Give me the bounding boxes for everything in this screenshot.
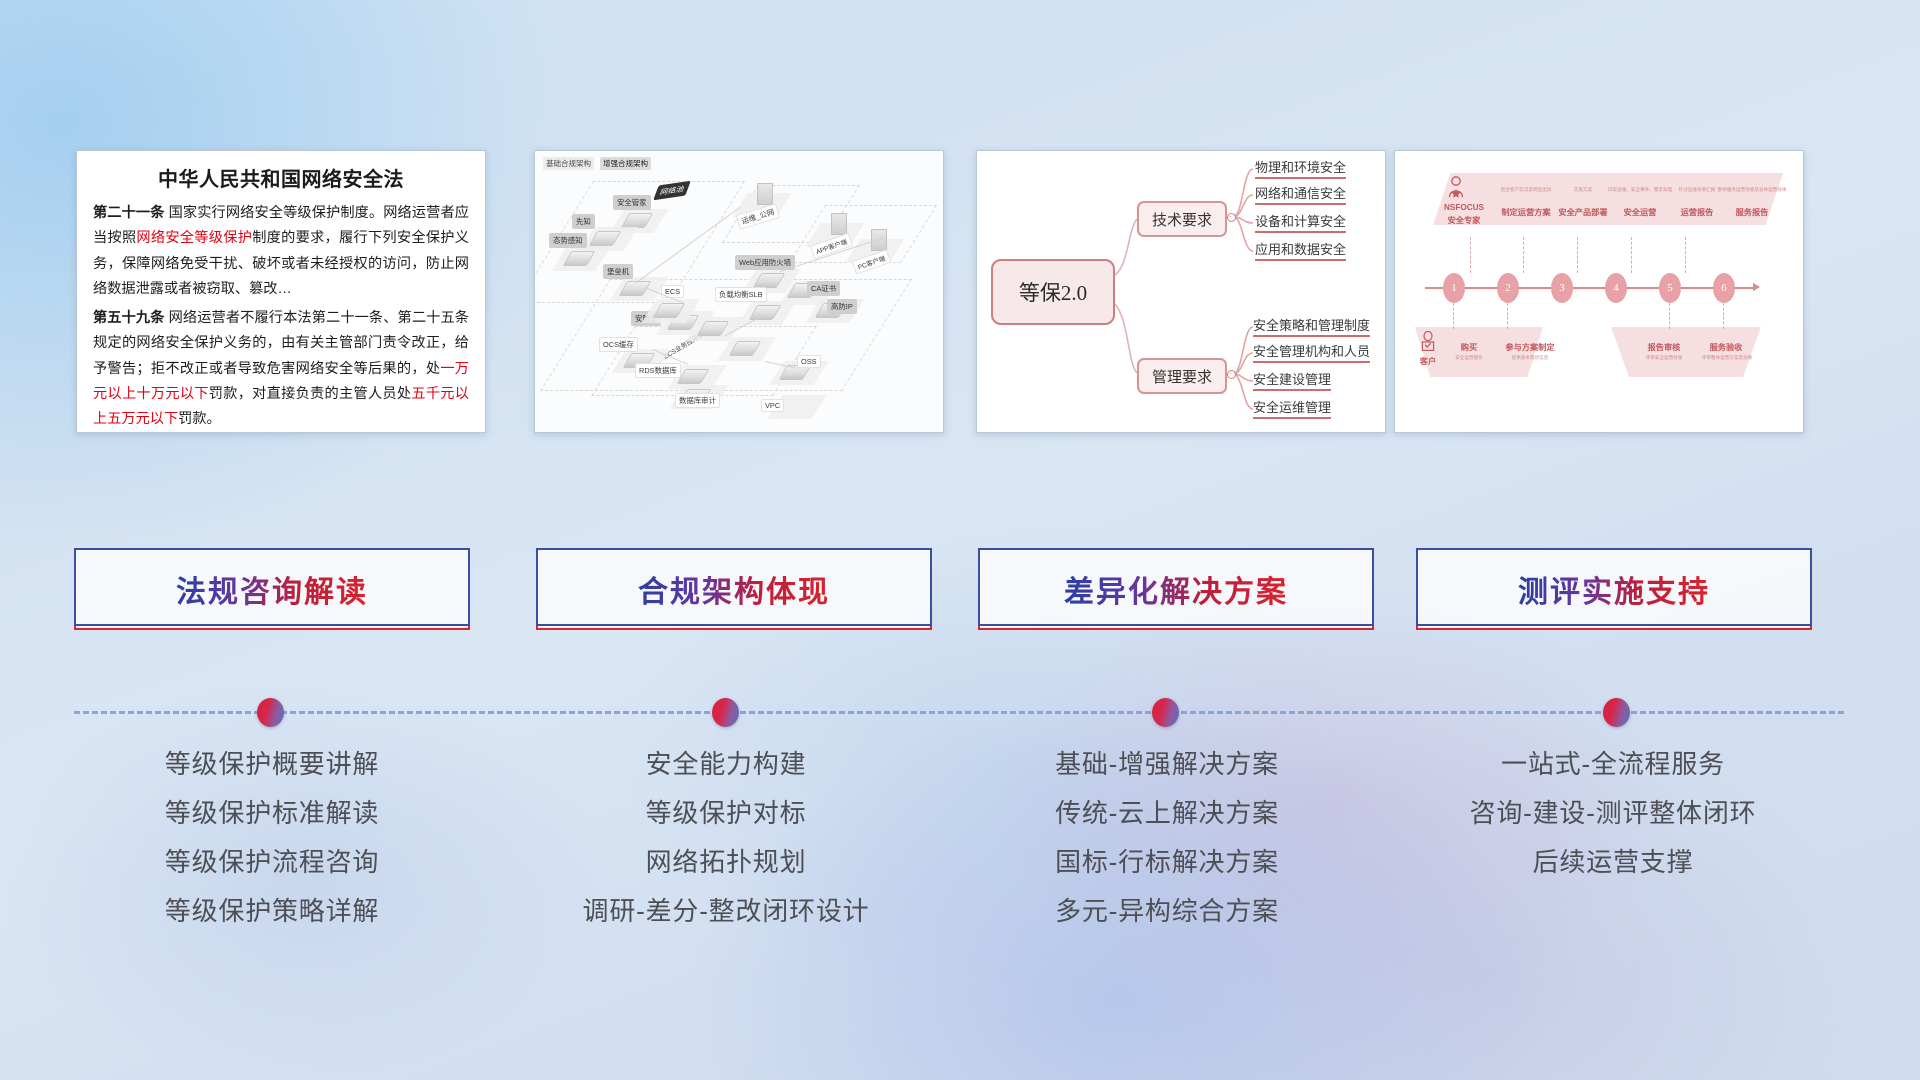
server-app-client xyxy=(831,213,847,235)
node-db-audit: 数据库审计 xyxy=(675,393,720,408)
nsfocus-bottom-label-4: 服务验收 xyxy=(1697,341,1755,353)
node-slb: 负载均衡SLB xyxy=(715,287,767,302)
nsfocus-bottom-label-3: 报告审核 xyxy=(1635,341,1693,353)
timeline-node-4[interactable] xyxy=(1603,698,1630,727)
nsfocus-tick-bottom-2 xyxy=(1507,303,1509,329)
nsfocus-tick-top-3 xyxy=(1577,237,1579,273)
law-article-59-after: 罚款。 xyxy=(178,411,221,427)
node-rds: RDS数据库 xyxy=(635,363,681,378)
cloud-architecture-diagram: 基础合规架构 增强合规架构 网络池 安全管家 先知 态势 xyxy=(535,151,943,432)
law-document: 中华人民共和国网络安全法 第二十一条 国家实行网络安全等级保护制度。网络运营者应… xyxy=(77,151,485,432)
mindmap-branch-management: 管理要求 xyxy=(1137,358,1227,394)
nsfocus-axis xyxy=(1425,287,1755,289)
section-heading-box-2[interactable]: 合规架构体现 xyxy=(536,548,932,630)
nsfocus-bottom-label-1: 购买 xyxy=(1447,341,1491,353)
section-detail-lists: 等级保护概要讲解 等级保护标准解读 等级保护流程咨询 等级保护策略详解 安全能力… xyxy=(0,740,1920,960)
list-item: 一站式-全流程服务 xyxy=(1393,740,1833,789)
list-item: 等级保护流程咨询 xyxy=(52,838,492,887)
customer-icon xyxy=(1419,331,1437,353)
nsfocus-step-number-4: 4 xyxy=(1605,273,1627,303)
list-item: 传统-云上解决方案 xyxy=(947,789,1387,838)
node-bastion-host: 堡垒机 xyxy=(603,264,633,279)
list-item: 等级保护概要讲解 xyxy=(52,740,492,789)
card-nsfocus-service-timeline: NSFOCUS 安全专家 结合客户实况说明后出具 制定运营方案 实施方案 安全产… xyxy=(1394,150,1804,433)
mindmap-collapse-dot-management[interactable] xyxy=(1227,370,1236,379)
list-item: 安全能力构建 xyxy=(506,740,946,789)
architecture-tabs: 基础合规架构 增强合规架构 xyxy=(543,157,651,170)
list-item: 等级保护策略详解 xyxy=(52,887,492,936)
node-vpc: VPC xyxy=(761,399,784,412)
mindmap-leaf-construction-mgmt: 安全建设管理 xyxy=(1253,369,1331,393)
mindmap-leaf-device-compute: 设备和计算安全 xyxy=(1255,211,1346,235)
node-ca-cert: CA证书 xyxy=(807,281,840,296)
detail-list-3: 基础-增强解决方案 传统-云上解决方案 国标-行标解决方案 多元-异构综合方案 xyxy=(947,740,1387,936)
list-item: 网络拓扑规划 xyxy=(506,838,946,887)
nsfocus-bottom-sub-1: 安全运营服务 xyxy=(1443,355,1495,361)
nsfocus-top-sub-5: 整体服务运营效果及总体运营效果 xyxy=(1693,187,1804,193)
nsfocus-step-number-3: 3 xyxy=(1551,273,1573,303)
mindmap-root: 等保2.0 xyxy=(991,259,1115,325)
timeline-dashed-line xyxy=(74,711,1844,714)
card-mindmap-dengbao: 等保2.0 技术要求 物理和环境安全 网络和通信安全 设备和计算安全 应用和数据… xyxy=(976,150,1386,433)
nsfocus-step-number-6: 6 xyxy=(1713,273,1735,303)
section-heading-label-4: 测评实施支持 xyxy=(1518,567,1710,611)
nsfocus-axis-arrow-icon xyxy=(1753,283,1760,291)
node-xianzhi: 先知 xyxy=(572,214,595,229)
law-article-21-highlight: 网络安全等级保护 xyxy=(136,230,252,246)
detail-list-2: 安全能力构建 等级保护对标 网络拓扑规划 调研-差分-整改闭环设计 xyxy=(506,740,946,936)
nsfocus-tick-bottom-3 xyxy=(1669,303,1671,329)
mindmap-leaf-org-personnel: 安全管理机构和人员 xyxy=(1253,341,1370,365)
nsfocus-top-label-5: 服务报告 xyxy=(1693,206,1804,218)
mindmap-leaf-policy-system: 安全策略和管理制度 xyxy=(1253,315,1370,339)
section-heading-box-4[interactable]: 测评实施支持 xyxy=(1416,548,1812,630)
nsfocus-bottom-sub-2: 提供基本现状信息 xyxy=(1493,355,1567,361)
nsfocus-step-number-5: 5 xyxy=(1659,273,1681,303)
mindmap-leaf-ops-mgmt: 安全运维管理 xyxy=(1253,397,1331,421)
mindmap-collapse-dot-technical[interactable] xyxy=(1227,213,1236,222)
mindmap-leaf-physical-env: 物理和环境安全 xyxy=(1255,157,1346,181)
law-article-59-mid: 罚款，对直接负责的主管人员处 xyxy=(209,386,412,402)
list-item: 等级保护标准解读 xyxy=(52,789,492,838)
mindmap-leaf-app-data: 应用和数据安全 xyxy=(1255,239,1346,263)
node-anti-ddos-ip: 高防IP xyxy=(827,299,857,314)
nsfocus-step-number-2: 2 xyxy=(1497,273,1519,303)
node-oss: OSS xyxy=(797,355,821,368)
section-heading-box-3[interactable]: 差异化解决方案 xyxy=(978,548,1374,630)
timeline-node-3[interactable] xyxy=(1152,698,1179,727)
nsfocus-bottom-label-2: 参与方案制定 xyxy=(1493,341,1567,353)
law-article-59: 第五十九条 网络运营者不履行本法第二十一条、第二十五条规定的网络安全保护义务的，… xyxy=(93,306,469,432)
mindmap-branch-technical: 技术要求 xyxy=(1137,201,1227,237)
law-article-21-label: 第二十一条 xyxy=(93,205,165,221)
card-cloud-architecture: 基础合规架构 增强合规架构 网络池 安全管家 先知 态势 xyxy=(534,150,944,433)
tab-enhanced-architecture[interactable]: 增强合规架构 xyxy=(600,157,651,170)
section-heading-label-1: 法规咨询解读 xyxy=(176,567,368,611)
law-title: 中华人民共和国网络安全法 xyxy=(93,163,469,192)
nsfocus-tick-top-5 xyxy=(1685,237,1687,273)
nsfocus-customer-label: 客户 xyxy=(1415,355,1441,367)
section-heading-box-1[interactable]: 法规咨询解读 xyxy=(74,548,470,630)
timeline-node-2[interactable] xyxy=(712,698,739,727)
timeline-track xyxy=(0,692,1920,732)
list-item: 国标-行标解决方案 xyxy=(947,838,1387,887)
section-heading-label-3: 差异化解决方案 xyxy=(1064,567,1288,611)
tab-basic-architecture[interactable]: 基础合规架构 xyxy=(543,157,594,170)
nsfocus-step-number-1: 1 xyxy=(1443,273,1465,303)
nsfocus-tick-top-4 xyxy=(1631,237,1633,273)
reference-image-cards: 中华人民共和国网络安全法 第二十一条 国家实行网络安全等级保护制度。网络运营者应… xyxy=(0,150,1920,433)
infographic-canvas: 中华人民共和国网络安全法 第二十一条 国家实行网络安全等级保护制度。网络运营者应… xyxy=(0,0,1920,1080)
law-article-21: 第二十一条 国家实行网络安全等级保护制度。网络运营者应当按照网络安全等级保护制度… xyxy=(93,201,469,302)
list-item: 咨询-建设-测评整体闭环 xyxy=(1393,789,1833,838)
law-article-59-label: 第五十九条 xyxy=(93,310,165,326)
nsfocus-tick-bottom-4 xyxy=(1723,303,1725,329)
list-item: 基础-增强解决方案 xyxy=(947,740,1387,789)
mindmap: 等保2.0 技术要求 物理和环境安全 网络和通信安全 设备和计算安全 应用和数据… xyxy=(977,151,1385,432)
list-item: 多元-异构综合方案 xyxy=(947,887,1387,936)
nsfocus-bottom-sub-4: 评审整体运营方案及效果 xyxy=(1689,355,1765,361)
nsfocus-tick-bottom-1 xyxy=(1453,303,1455,329)
list-item: 等级保护对标 xyxy=(506,789,946,838)
timeline-node-1[interactable] xyxy=(257,698,284,727)
detail-list-4: 一站式-全流程服务 咨询-建设-测评整体闭环 后续运营支撑 xyxy=(1393,740,1833,887)
nsfocus-timeline: NSFOCUS 安全专家 结合客户实况说明后出具 制定运营方案 实施方案 安全产… xyxy=(1395,151,1803,432)
mindmap-leaf-network-comm: 网络和通信安全 xyxy=(1255,183,1346,207)
server-ops-public xyxy=(757,183,773,205)
node-ocs-cache: OCS缓存 xyxy=(599,337,638,352)
section-heading-label-2: 合规架构体现 xyxy=(638,567,830,611)
list-item: 后续运营支撑 xyxy=(1393,838,1833,887)
nsfocus-tick-top-2 xyxy=(1523,237,1525,273)
node-situational-awareness: 态势感知 xyxy=(549,233,587,248)
detail-list-1: 等级保护概要讲解 等级保护标准解读 等级保护流程咨询 等级保护策略详解 xyxy=(52,740,492,936)
section-heading-row: 法规咨询解读 合规架构体现 差异化解决方案 测评实施支持 xyxy=(0,548,1920,640)
card-cybersecurity-law: 中华人民共和国网络安全法 第二十一条 国家实行网络安全等级保护制度。网络运营者应… xyxy=(76,150,486,433)
expert-icon xyxy=(1445,175,1467,199)
list-item: 调研-差分-整改闭环设计 xyxy=(506,887,946,936)
nsfocus-tick-top-1 xyxy=(1470,237,1472,273)
node-security-butler: 安全管家 xyxy=(613,195,651,210)
